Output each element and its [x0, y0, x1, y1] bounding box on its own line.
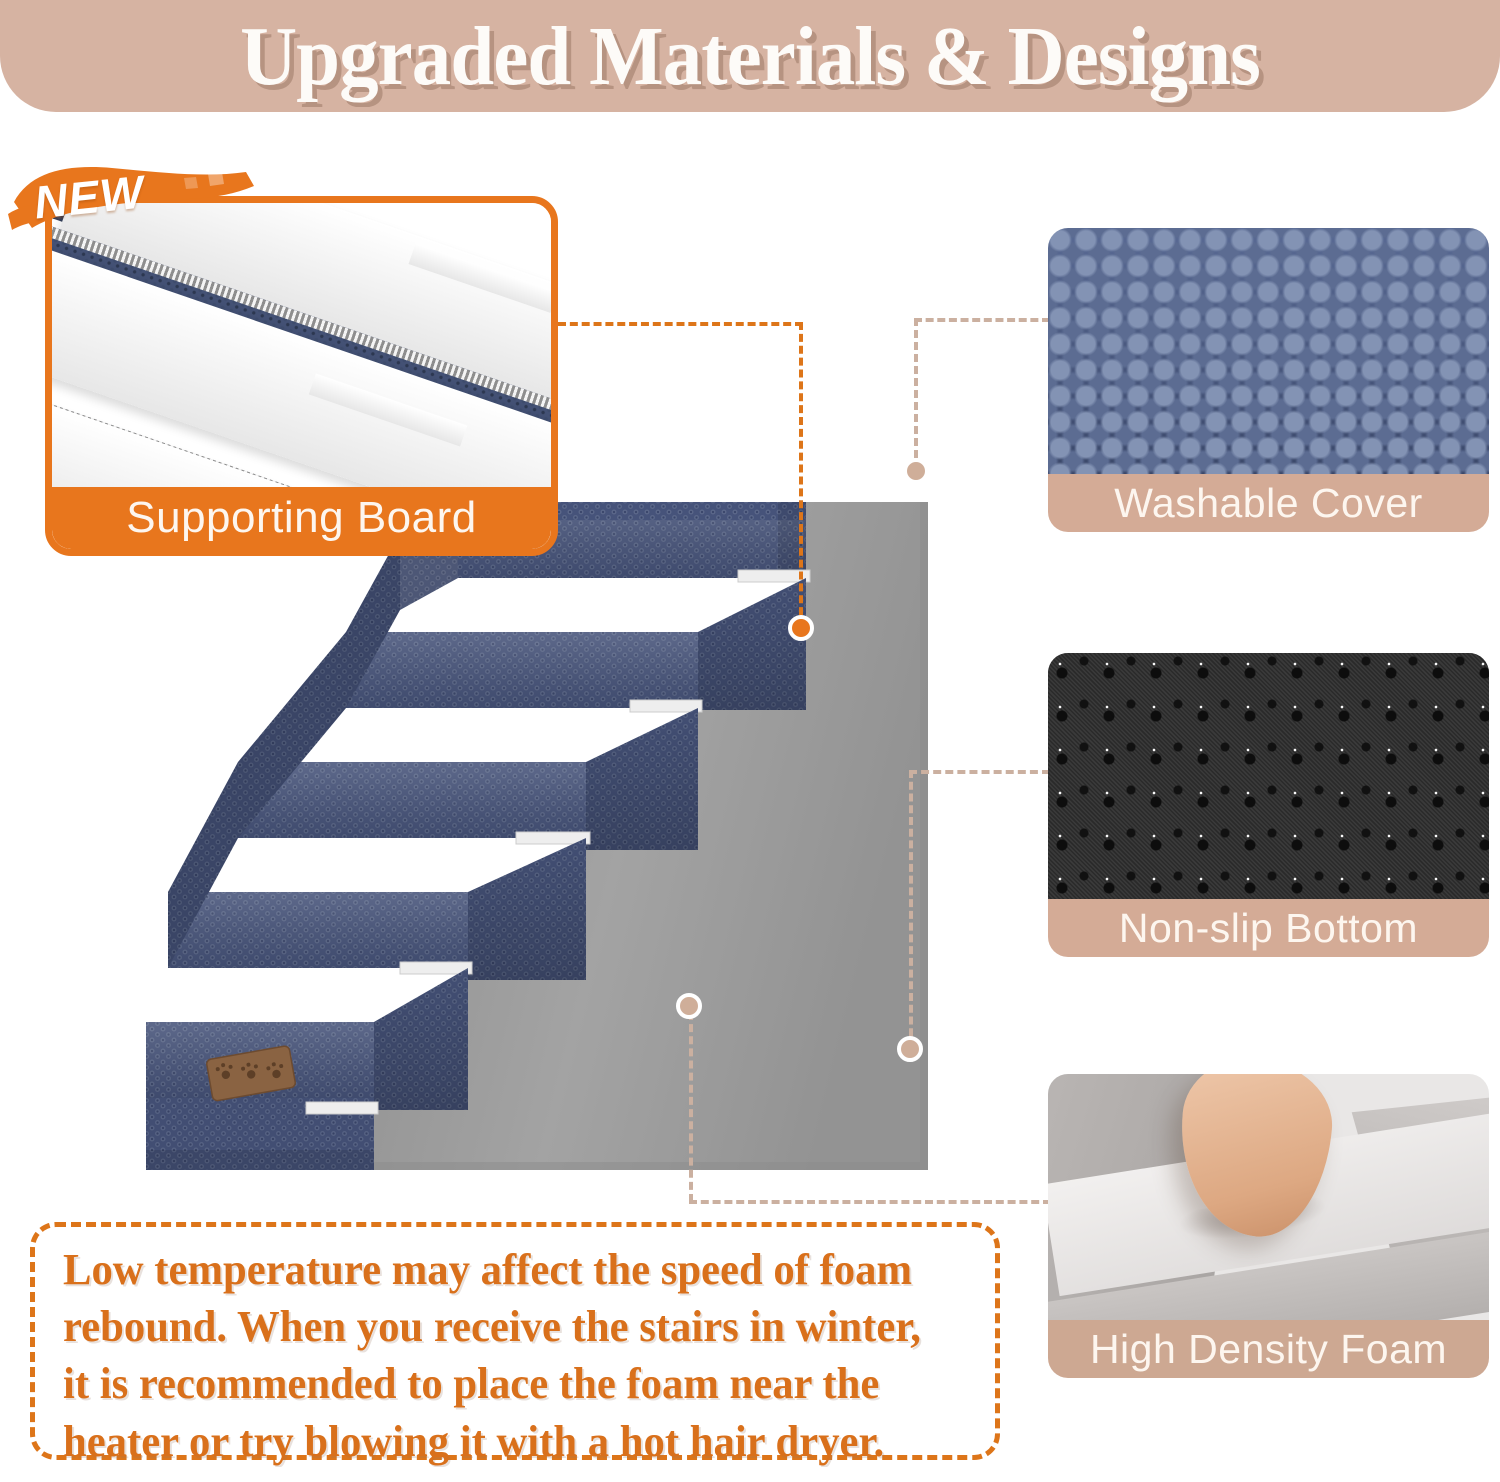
new-badge-icon: NEW [8, 158, 258, 236]
high-density-foam-connector-dot [676, 993, 702, 1019]
high-density-foam-photo [1048, 1074, 1489, 1320]
washable-cover-connector-horizontal [914, 318, 1050, 322]
washable-cover-texture [1048, 228, 1489, 474]
washable-cover-connector-dot [903, 458, 929, 484]
supporting-board-connector-dot [788, 615, 814, 641]
panel-supporting-board-label: Supporting Board [52, 487, 551, 549]
panel-washable-cover-label: Washable Cover [1048, 474, 1489, 532]
panel-high-density-foam-label: High Density Foam [1048, 1320, 1489, 1378]
high-density-foam-connector-vertical [689, 1012, 693, 1202]
supporting-board-photo [52, 203, 551, 487]
high-density-foam-connector-horizontal [689, 1200, 1051, 1204]
panel-non-slip-bottom[interactable]: Non-slip Bottom [1048, 653, 1489, 957]
panel-supporting-board[interactable]: Supporting Board [45, 196, 558, 556]
panel-non-slip-bottom-label: Non-slip Bottom [1048, 899, 1489, 957]
washable-cover-connector-vertical [914, 318, 918, 470]
page-title: Upgraded Materials & Designs [45, 8, 1455, 105]
supporting-board-connector-vertical [799, 322, 803, 627]
non-slip-bottom-texture [1048, 653, 1489, 899]
non-slip-bottom-connector-vertical [909, 770, 913, 1048]
non-slip-bottom-connector-horizontal [909, 770, 1050, 774]
notice-text: Low temperature may affect the speed of … [63, 1241, 940, 1470]
header-banner: Upgraded Materials & Designs [0, 0, 1500, 112]
panel-washable-cover[interactable]: Washable Cover [1048, 228, 1489, 532]
notice-box: Low temperature may affect the speed of … [30, 1222, 1000, 1460]
panel-high-density-foam[interactable]: High Density Foam [1048, 1074, 1489, 1378]
non-slip-bottom-connector-dot [897, 1036, 923, 1062]
supporting-board-connector-horizontal [558, 322, 803, 326]
new-badge-label: NEW [31, 164, 146, 229]
